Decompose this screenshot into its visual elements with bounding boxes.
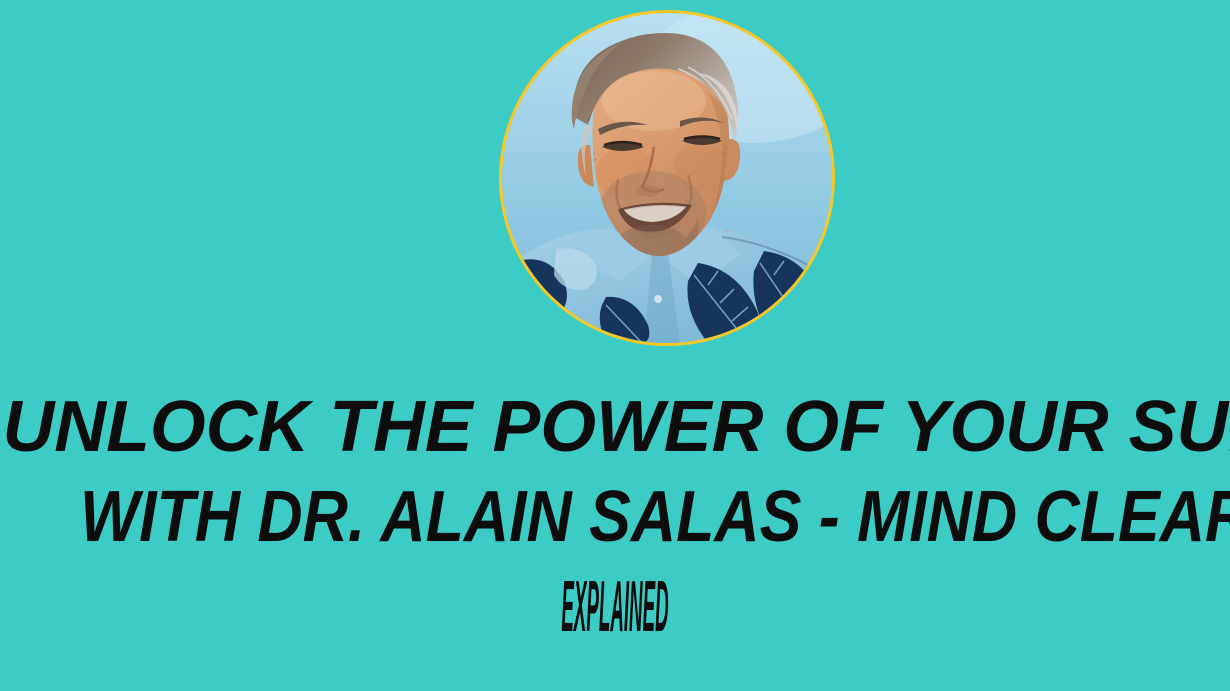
portrait-block <box>499 10 835 346</box>
thumbnail-canvas: UNLOCK THE POWER OF YOUR SUBCONSCIOUS MI… <box>0 0 1230 691</box>
title-block: UNLOCK THE POWER OF YOUR SUBCONSCIOUS MI… <box>0 382 1230 652</box>
portrait-illustration <box>502 13 832 343</box>
title-line-2: WITH DR. ALAIN SALAS - MIND CLEARING <box>80 472 1150 562</box>
portrait-photo <box>502 13 832 343</box>
title-line-3: EXPLAINED <box>455 562 775 652</box>
title-line-1: UNLOCK THE POWER OF YOUR SUBCONSCIOUS MI… <box>3 382 1228 472</box>
